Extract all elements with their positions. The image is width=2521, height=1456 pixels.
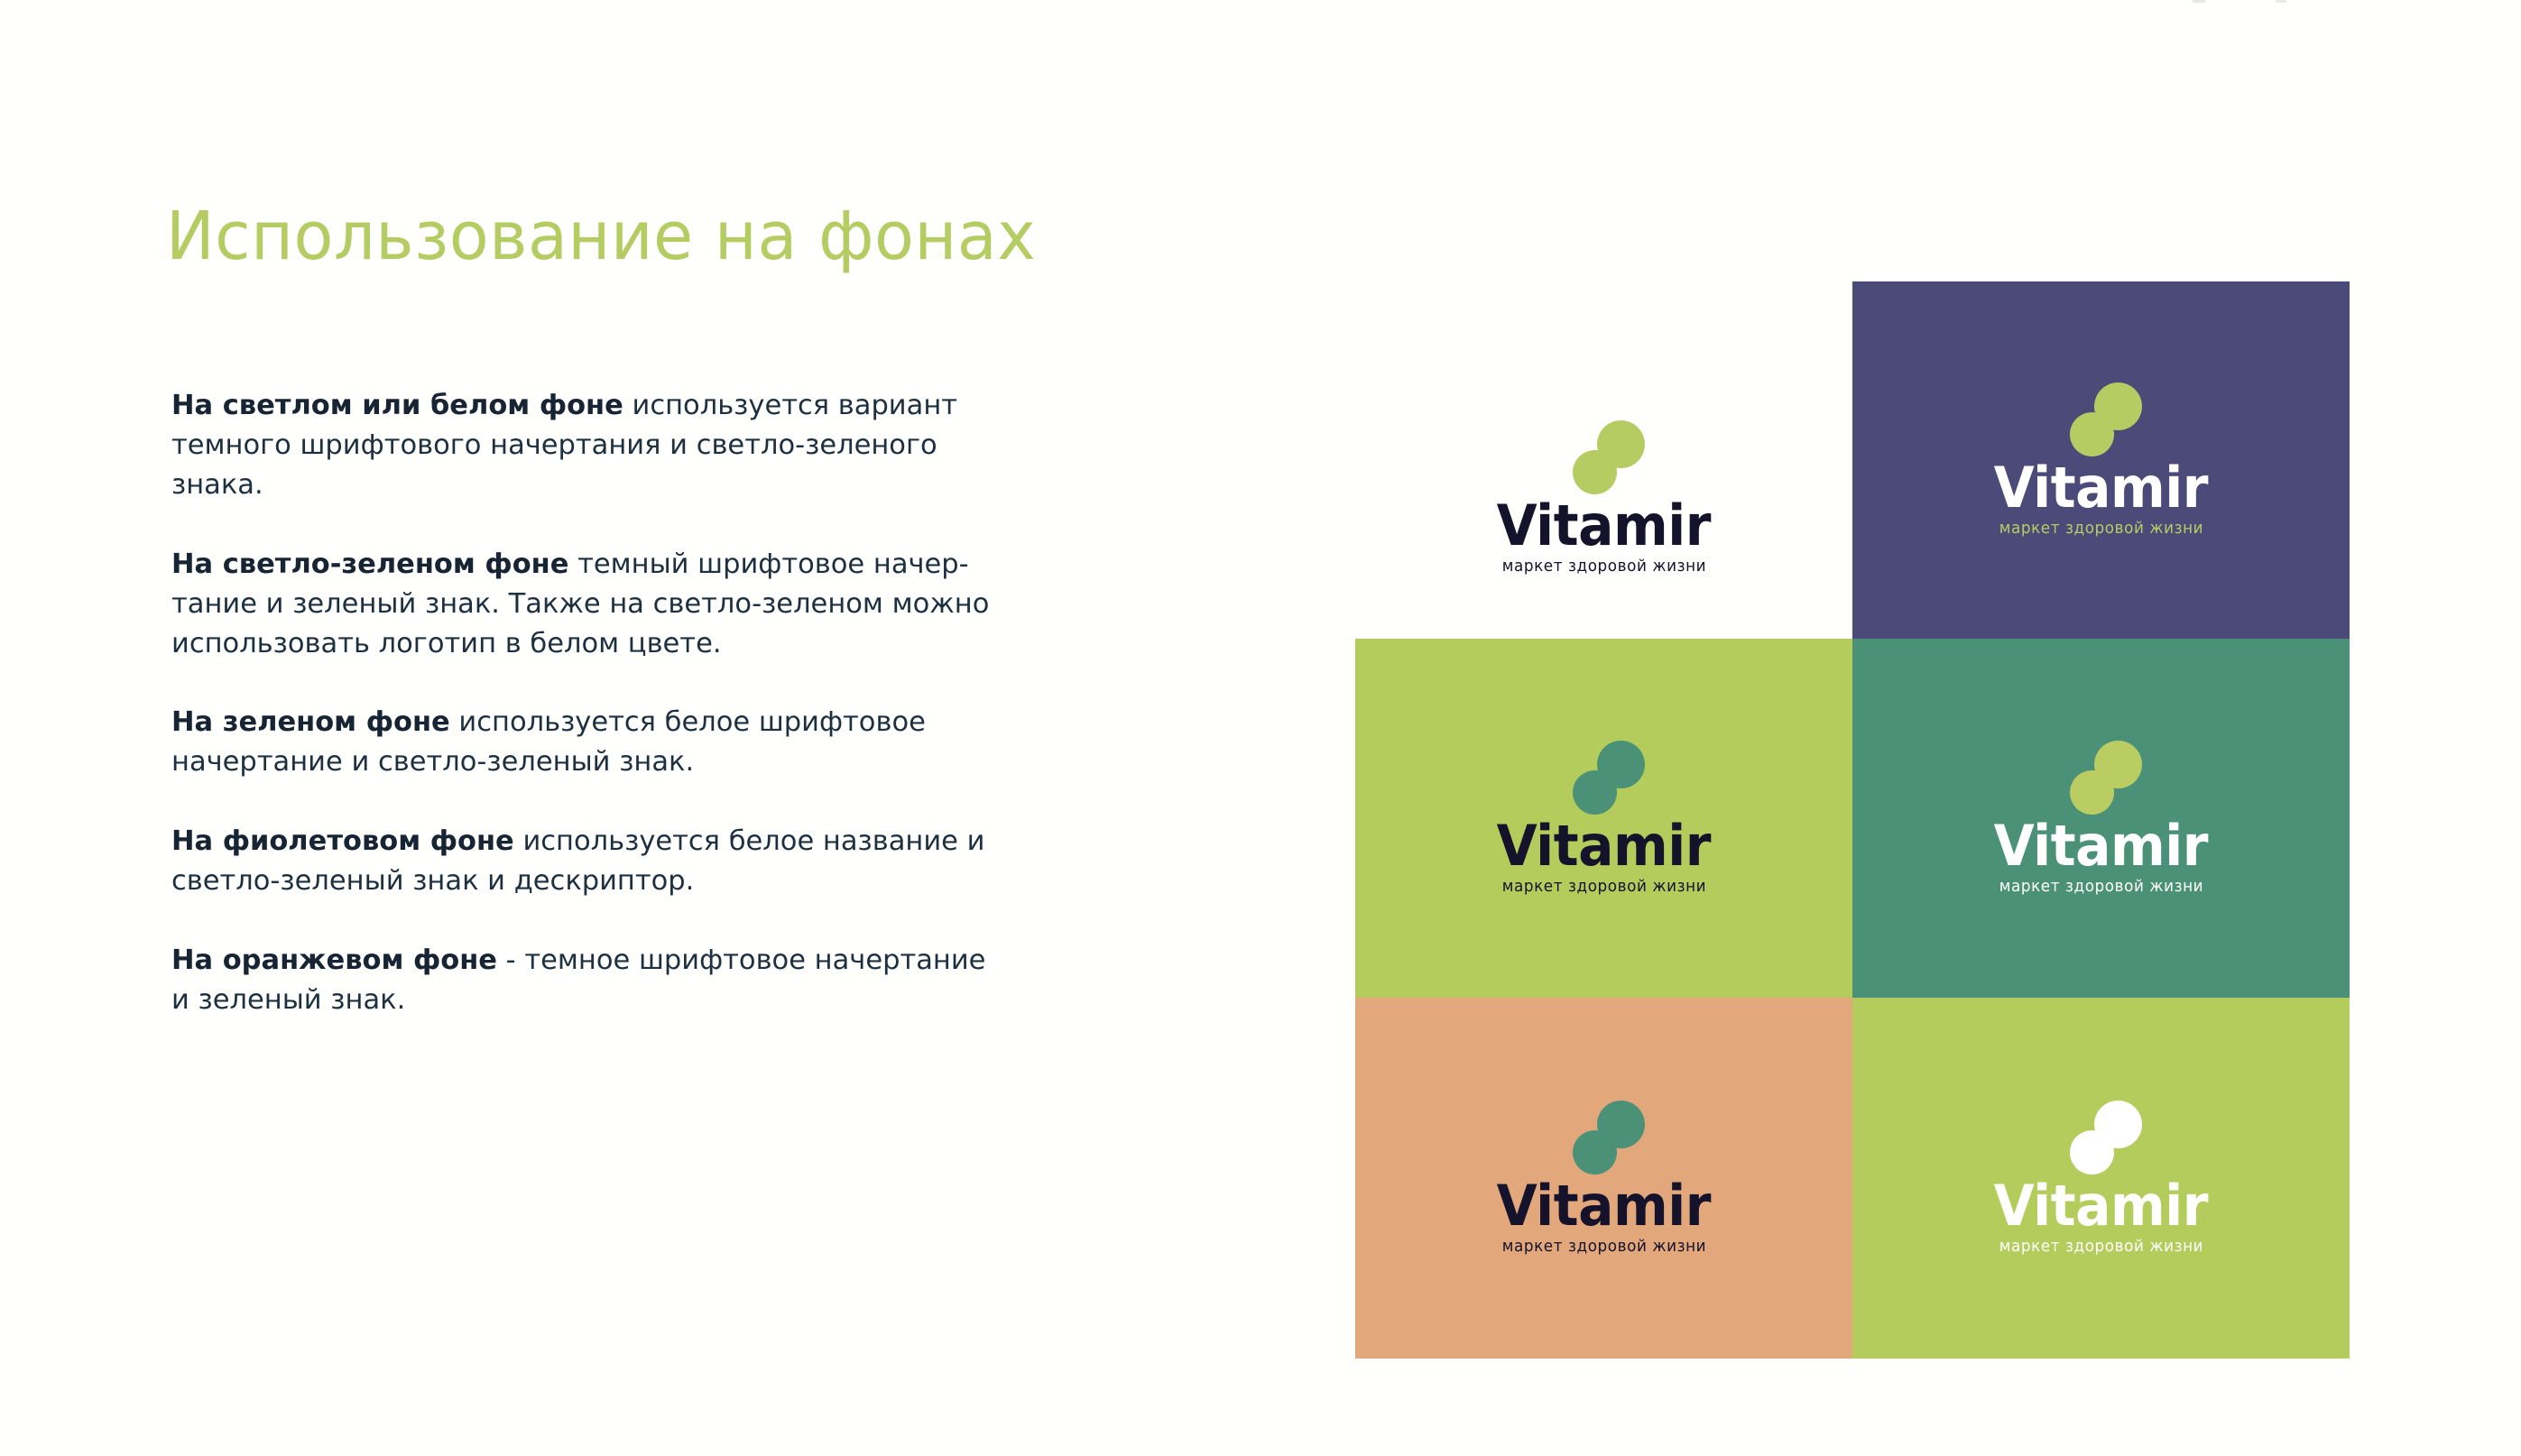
logo-lockup: Vitamir маркет здоровой жизни	[1987, 382, 2215, 538]
swatch-tile-orange: Vitamir маркет здоровой жизни	[1355, 998, 1852, 1359]
circle-lower	[2070, 1130, 2114, 1175]
circle-lower	[1573, 770, 1617, 815]
description-text-block: На светлом или белом фоне используется в…	[171, 386, 1002, 1020]
paragraph-green-background: На зеленом фоне используется белое шрифт…	[171, 703, 1002, 782]
paragraph-light-green-background: На светло-зеленом фоне темный шрифтовое …	[171, 545, 1002, 664]
logo-tagline: маркет здоровой жизни	[1501, 558, 1705, 576]
paragraph-orange-background: На оранжевом фоне - темное шрифтовое нач…	[171, 941, 1002, 1020]
paragraph-lead: На оранжевом фоне	[171, 945, 497, 976]
logo-lockup: Vitamir маркет здоровой жизни	[1987, 1101, 2215, 1256]
two-overlapping-circles-icon	[1573, 1101, 1645, 1175]
two-overlapping-circles-icon	[2070, 741, 2142, 815]
paragraph-lead: На светлом или белом фоне	[171, 390, 623, 421]
logo-tagline: маркет здоровой жизни	[1999, 878, 2202, 896]
paragraph-purple-background: На фиолетовом фоне используется белое на…	[171, 822, 1002, 901]
slide-canvas: Использование на фонах На светлом или бе…	[0, 0, 2521, 1456]
logo-lockup: Vitamir маркет здоровой жизни	[1490, 741, 1718, 896]
swatch-tile-light-green: Vitamir маркет здоровой жизни	[1355, 639, 1852, 998]
two-overlapping-circles-icon	[1573, 420, 1645, 494]
two-overlapping-circles-icon	[1573, 741, 1645, 815]
swatch-tile-lime-white-logo: Vitamir маркет здоровой жизни	[1852, 998, 2350, 1359]
page-title: Использование на фонах	[166, 203, 1036, 270]
logo-wordmark: Vitamir	[1497, 1180, 1711, 1233]
logo-wordmark: Vitamir	[1994, 820, 2208, 873]
logo-wordmark: Vitamir	[1497, 500, 1711, 553]
logo-lockup: Vitamir маркет здоровой жизни	[1987, 741, 2215, 896]
logo-tagline: маркет здоровой жизни	[1501, 1238, 1705, 1256]
logo-lockup: Vitamir маркет здоровой жизни	[1490, 1101, 1718, 1256]
paragraph-white-background: На светлом или белом фоне используется в…	[171, 386, 1002, 505]
swatch-tile-dark-green: Vitamir маркет здоровой жизни	[1852, 639, 2350, 998]
top-edge-artifact	[2193, 0, 2355, 3]
paragraph-lead: На зеленом фоне	[171, 706, 450, 738]
logo-tagline: маркет здоровой жизни	[1999, 520, 2202, 538]
logo-wordmark: Vitamir	[1497, 820, 1711, 873]
logo-tagline: маркет здоровой жизни	[1501, 878, 1705, 896]
circle-lower	[2070, 770, 2114, 815]
paragraph-lead: На светло-зеленом фоне	[171, 548, 568, 580]
logo-wordmark: Vitamir	[1994, 1180, 2208, 1233]
swatch-tile-white: Vitamir маркет здоровой жизни	[1355, 357, 1852, 639]
logo-wordmark: Vitamir	[1994, 462, 2208, 515]
logo-lockup: Vitamir маркет здоровой жизни	[1490, 420, 1718, 576]
two-overlapping-circles-icon	[2070, 1101, 2142, 1175]
swatch-tile-purple: Vitamir маркет здоровой жизни	[1852, 281, 2350, 639]
background-swatch-grid: Vitamir маркет здоровой жизни Vitamir ма…	[1355, 281, 2350, 1360]
logo-tagline: маркет здоровой жизни	[1999, 1238, 2202, 1256]
circle-lower	[2070, 412, 2114, 456]
two-overlapping-circles-icon	[2070, 382, 2142, 456]
circle-lower	[1573, 450, 1617, 494]
circle-lower	[1573, 1130, 1617, 1175]
paragraph-lead: На фиолетовом фоне	[171, 825, 514, 857]
